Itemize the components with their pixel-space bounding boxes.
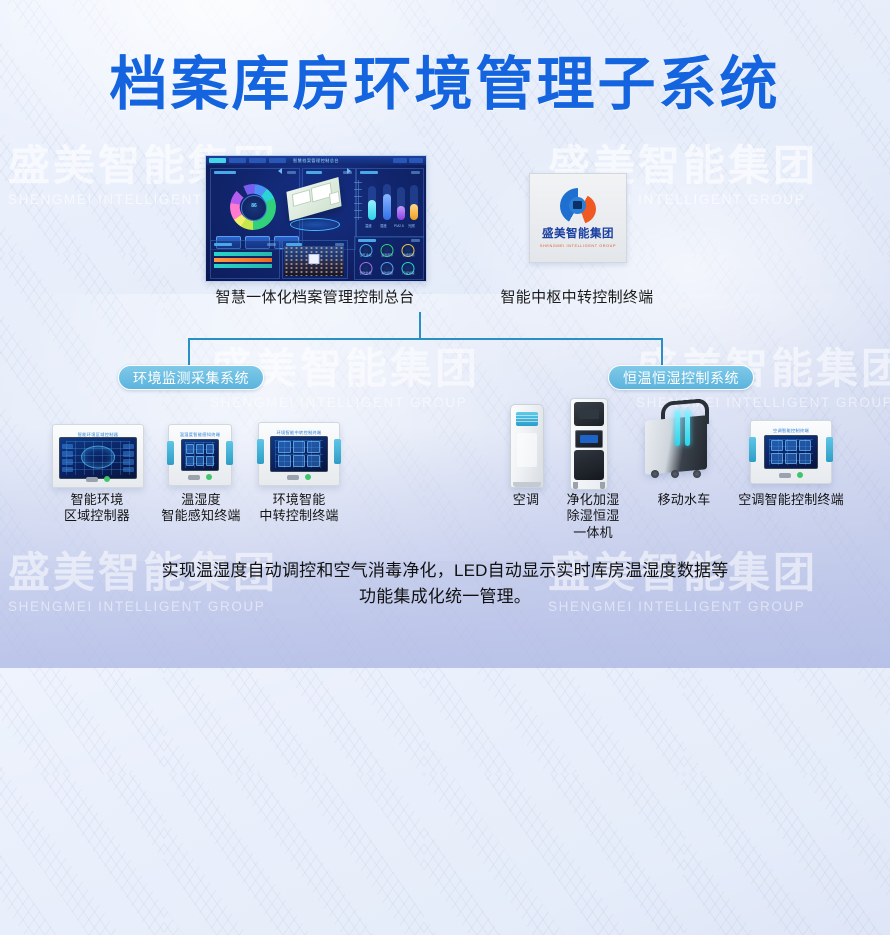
hub-terminal-image: 盛美智能集团 SHENGMEI INTELLIGENT GROUP xyxy=(529,173,627,263)
ac-terminal-screen[interactable] xyxy=(764,435,818,469)
status-led xyxy=(305,474,311,480)
device-purifier-humidifier xyxy=(570,398,608,490)
function-label: 门禁管理 xyxy=(399,271,418,275)
power-switch[interactable] xyxy=(86,477,98,482)
function-icon-grid: 空气净化 温湿调节 智能照明 安防监控 消防报警 门禁管理 xyxy=(356,242,418,276)
status-led xyxy=(797,472,803,478)
device-ac-control-terminal: 空调智能控制终端 xyxy=(750,420,832,484)
purifier-body xyxy=(570,398,608,490)
gauge-value: 86 xyxy=(242,203,266,209)
label-area-controller: 智能环境 区域控制器 xyxy=(42,492,152,525)
dashboard-canvas: 智慧档案管理控制总台 86 xyxy=(206,156,426,281)
relay-terminal-body: 环境智能中转控制终端 xyxy=(258,422,340,486)
archive-photo xyxy=(284,246,344,276)
panel-more-bar xyxy=(287,171,296,174)
panel-title-bar xyxy=(306,171,322,174)
function-label: 温湿调节 xyxy=(377,253,396,257)
label-line: 智能感知终端 xyxy=(146,508,256,524)
panel-title-bar xyxy=(214,171,236,174)
label-line: 移动水车 xyxy=(636,492,732,508)
function-tile[interactable]: 门禁管理 xyxy=(399,260,418,276)
label-line: 净化加湿 xyxy=(548,492,638,508)
controller-screen[interactable] xyxy=(59,437,137,479)
side-accent xyxy=(334,439,341,464)
model-body xyxy=(286,177,341,221)
label-ac-control-terminal: 空调智能控制终端 xyxy=(726,492,856,508)
cart-wheel xyxy=(671,470,679,478)
group-label-env-monitor[interactable]: 环境监测采集系统 xyxy=(118,365,264,390)
screen-tiles xyxy=(771,440,811,464)
purifier-top-module xyxy=(574,402,604,426)
label-line: 除湿恒湿 xyxy=(548,508,638,524)
function-label: 消防报警 xyxy=(377,271,396,275)
trend-chart xyxy=(212,248,274,274)
side-accent xyxy=(226,441,233,465)
function-label: 安防监控 xyxy=(356,271,375,275)
cart-wheel xyxy=(651,470,659,478)
bar-tube xyxy=(397,187,405,220)
function-label: 空气净化 xyxy=(356,253,375,257)
trend-band xyxy=(214,264,272,268)
screen-ring-graphic xyxy=(81,446,115,469)
label-th-sensor-terminal: 温湿度 智能感知终端 xyxy=(146,492,256,525)
label-line: 一体机 xyxy=(548,525,638,541)
document-icon xyxy=(309,254,320,264)
ac-front-panel xyxy=(517,433,537,467)
panel-title-bar xyxy=(360,171,378,174)
label-line: 空调智能控制终端 xyxy=(726,492,856,508)
power-switch[interactable] xyxy=(188,475,200,480)
function-label: 智能照明 xyxy=(399,253,418,257)
purifier-legs xyxy=(573,482,605,489)
dashboard-status-chip xyxy=(393,158,407,163)
page-title: 档案库房环境管理子系统 xyxy=(0,53,890,117)
sensor-footer-controls xyxy=(169,474,231,480)
panel-more-bar xyxy=(411,171,420,174)
side-accent xyxy=(749,437,756,462)
device-mobile-water-cart xyxy=(645,400,707,478)
screen-tiles xyxy=(278,441,321,467)
hub-caption: 智能中枢中转控制终端 xyxy=(487,286,667,307)
purifier-display-module[interactable] xyxy=(575,430,603,448)
group-label-thermo-humid[interactable]: 恒温恒湿控制系统 xyxy=(608,365,754,390)
trend-band xyxy=(214,252,272,256)
th-sensor-body: 温湿度智能感知终端 xyxy=(168,424,232,486)
bar-label: 温度 xyxy=(365,223,372,228)
relay-screen[interactable] xyxy=(270,436,328,472)
bar-chart-axis xyxy=(358,180,359,220)
logo-cn-text: 盛美智能集团 xyxy=(542,229,614,241)
footer-line-1: 实现温湿度自动调控和空气消毒净化，LED自动显示实时库房温湿度数据等 xyxy=(0,558,890,584)
area-controller-body: 智能环境区域控制器 xyxy=(52,424,144,488)
status-led xyxy=(104,476,110,482)
label-env-relay-terminal: 环境智能 中转控制终端 xyxy=(244,492,354,525)
bar-tube xyxy=(383,184,391,220)
floor-ac-body xyxy=(510,404,544,488)
function-tile[interactable]: 消防报警 xyxy=(377,260,396,276)
sensor-screen[interactable] xyxy=(181,439,219,471)
dashboard-status-chip xyxy=(409,158,423,163)
dashboard-tab[interactable] xyxy=(209,158,226,163)
ac-base xyxy=(513,482,541,487)
logo-en-text: SHENGMEI INTELLIGENT GROUP xyxy=(540,244,616,248)
label-line: 区域控制器 xyxy=(42,508,152,524)
screen-right-list xyxy=(123,444,134,473)
footer-caption: 实现温湿度自动调控和空气消毒净化，LED自动显示实时库房温湿度数据等 功能集成化… xyxy=(0,558,890,611)
ac-terminal-footer-controls xyxy=(751,472,831,478)
uv-lamp-icon xyxy=(675,410,680,446)
console-caption: 智慧一体化档案管理控制总台 xyxy=(205,286,425,307)
dashboard-tab[interactable] xyxy=(269,158,286,163)
model-podium xyxy=(290,218,340,231)
bar-label: PM2.5 xyxy=(394,224,404,228)
shengmei-logo-icon xyxy=(558,188,598,226)
dashboard-tab[interactable] xyxy=(249,158,266,163)
console-dashboard-image: 智慧档案管理控制总台 86 xyxy=(205,155,427,282)
carousel-prev-icon[interactable] xyxy=(278,168,282,174)
label-line: 智能环境 xyxy=(42,492,152,508)
label-line: 环境智能 xyxy=(244,492,354,508)
model-block xyxy=(292,189,311,207)
cart-wheel xyxy=(693,470,701,478)
vertical-bar-chart: 温度 湿度 PM2.5 光照 xyxy=(358,178,416,228)
trend-band xyxy=(214,258,272,262)
watermark-en: SHENGMEI INTELLIGENT GROUP xyxy=(210,396,480,410)
bar-label: 光照 xyxy=(408,223,415,228)
connector-horizontal xyxy=(188,338,663,340)
device-env-relay-terminal: 环境智能中转控制终端 xyxy=(258,422,340,486)
dashboard-tab[interactable] xyxy=(229,158,246,163)
controller-footer-controls xyxy=(53,476,143,482)
side-accent xyxy=(167,441,174,465)
panel-title-bar xyxy=(214,243,232,246)
side-accent xyxy=(257,439,264,464)
side-accent xyxy=(826,437,833,462)
device-air-conditioner xyxy=(510,404,544,488)
building-3d-model xyxy=(282,178,346,232)
label-mobile-water-cart: 移动水车 xyxy=(636,492,732,508)
device-brand-text: 空调智能控制终端 xyxy=(751,428,831,434)
bar-tube xyxy=(368,186,376,220)
function-tile[interactable]: 安防监控 xyxy=(356,260,375,276)
label-purifier-humidifier: 净化加湿 除湿恒湿 一体机 xyxy=(548,492,638,541)
gauge-center: 86 xyxy=(241,195,267,221)
footer-line-2: 功能集成化统一管理。 xyxy=(0,584,890,610)
purifier-lower-module xyxy=(574,450,604,480)
power-switch[interactable] xyxy=(287,475,299,480)
device-brand-text: 温湿度智能感知终端 xyxy=(169,432,231,438)
device-th-sensor-terminal: 温湿度智能感知终端 xyxy=(168,424,232,486)
dashboard-header-title: 智慧档案管理控制总台 xyxy=(293,158,339,164)
function-tile[interactable]: 温湿调节 xyxy=(377,242,396,258)
device-area-controller: 智能环境区域控制器 xyxy=(52,424,144,488)
status-led xyxy=(206,474,212,480)
label-line: 中转控制终端 xyxy=(244,508,354,524)
function-tile[interactable]: 智能照明 xyxy=(399,242,418,258)
panel-more-bar xyxy=(267,243,276,246)
uv-lamp-icon xyxy=(685,410,690,446)
connector-stem xyxy=(419,312,421,339)
connector-right-drop xyxy=(661,338,663,366)
function-tile[interactable]: 空气净化 xyxy=(356,242,375,258)
bar-label: 湿度 xyxy=(380,223,387,228)
label-line: 温湿度 xyxy=(146,492,256,508)
relay-footer-controls xyxy=(259,474,339,480)
dashboard-topbar-right xyxy=(393,158,423,163)
carousel-next-icon[interactable] xyxy=(347,168,351,174)
bar-tube xyxy=(410,185,418,220)
water-cart-body xyxy=(645,400,707,478)
screen-left-list xyxy=(62,444,73,473)
dashboard-topbar: 智慧档案管理控制总台 xyxy=(206,156,426,165)
screen-tiles xyxy=(186,444,213,467)
power-switch[interactable] xyxy=(779,473,791,478)
ac-vent xyxy=(516,412,538,426)
ac-terminal-body: 空调智能控制终端 xyxy=(750,420,832,484)
model-block xyxy=(329,191,340,206)
